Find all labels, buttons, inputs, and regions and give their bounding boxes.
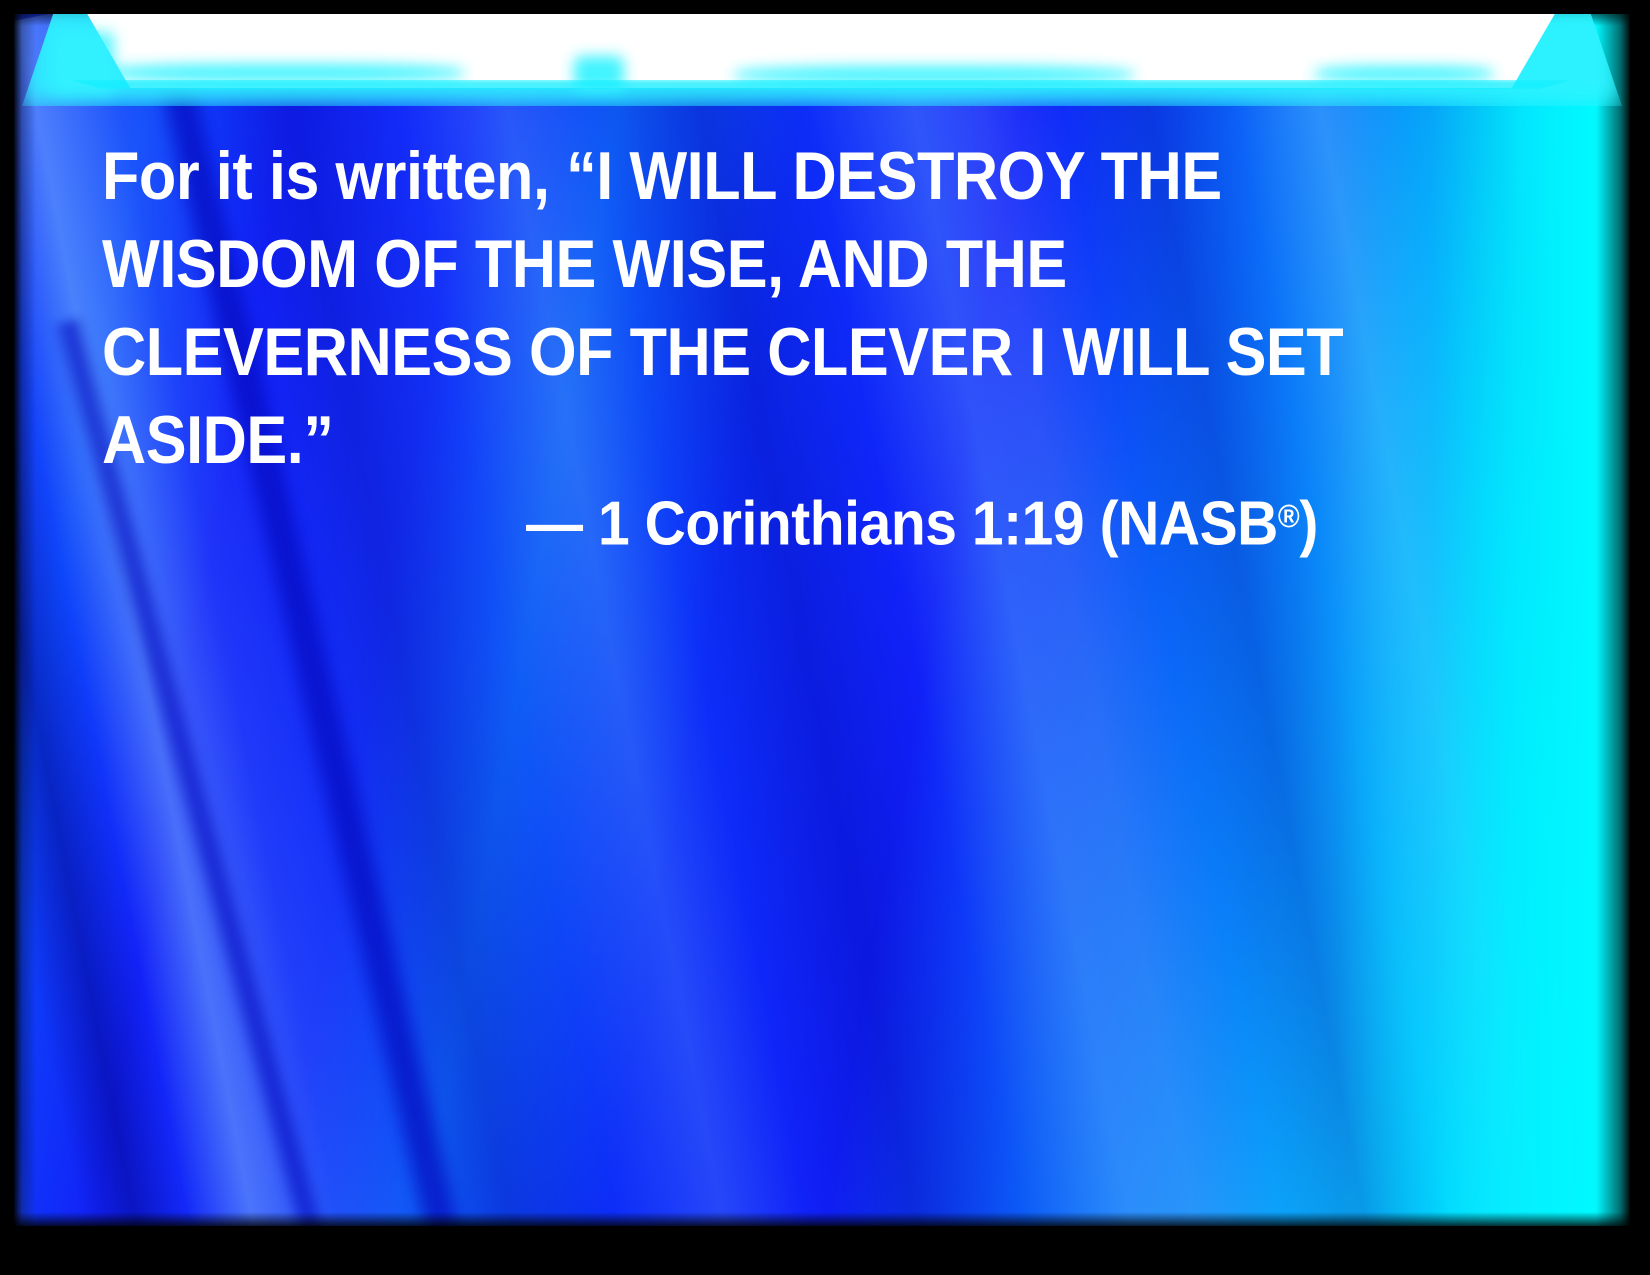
- banner-wisp-3: [1314, 66, 1494, 82]
- banner-underline: [40, 80, 1602, 89]
- registered-trademark-icon: ®: [1278, 498, 1299, 534]
- verse-block: For it is written, “I WILL DESTROY THE W…: [102, 132, 1522, 484]
- verse-text: For it is written, “I WILL DESTROY THE W…: [102, 132, 1380, 484]
- banner-wisp-1: [104, 64, 464, 82]
- top-banner: [14, 14, 1630, 124]
- attribution-dash: —: [526, 490, 583, 559]
- attribution-close-paren: ): [1299, 490, 1318, 559]
- scripture-slide: For it is written, “I WILL DESTROY THE W…: [0, 0, 1650, 1275]
- attribution-open-paren: (: [1100, 490, 1119, 559]
- slide-canvas: For it is written, “I WILL DESTROY THE W…: [14, 14, 1630, 1226]
- attribution-translation: NASB: [1118, 490, 1278, 559]
- attribution-reference: 1 Corinthians 1:19: [598, 490, 1084, 559]
- verse-attribution: — 1 Corinthians 1:19 (NASB®): [526, 476, 1318, 565]
